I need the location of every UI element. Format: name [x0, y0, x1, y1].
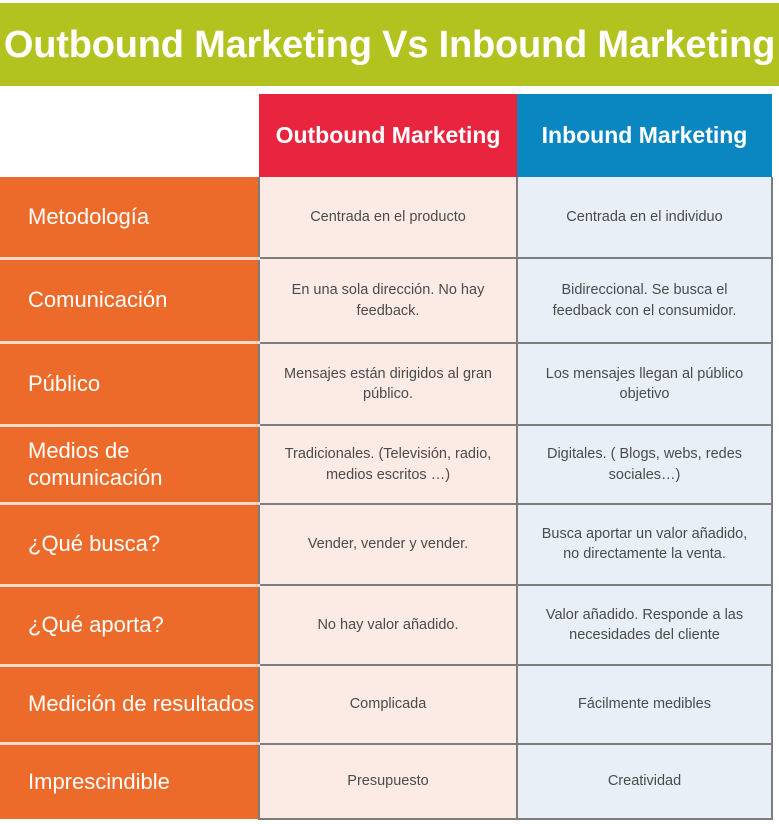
- cell-outbound-medicion-de-resultados: Complicada: [259, 665, 517, 743]
- column-header-outbound: Outbound Marketing: [259, 94, 517, 177]
- comparison-infographic: Outbound Marketing Vs Inbound Marketing …: [0, 0, 779, 824]
- title-banner: Outbound Marketing Vs Inbound Marketing: [0, 3, 779, 86]
- cell-outbound-medios-de-comunicacion: Tradicionales. (Televisión, radio, medio…: [259, 425, 517, 503]
- column-header-inbound: Inbound Marketing: [517, 94, 772, 177]
- row-label-que-aporta: ¿Qué aporta?: [0, 585, 259, 665]
- cell-outbound-comunicacion: En una sola dirección. No hay feedback.: [259, 258, 517, 343]
- table-row: Metodología Centrada en el producto Cent…: [0, 177, 772, 258]
- cell-inbound-que-aporta: Valor añadido. Responde a las necesidade…: [517, 585, 772, 665]
- row-label-medios-de-comunicacion: Medios de comunicación: [0, 425, 259, 503]
- cell-inbound-que-busca: Busca aportar un valor añadido, no direc…: [517, 504, 772, 585]
- row-label-imprescindible: Imprescindible: [0, 744, 259, 819]
- cell-outbound-que-aporta: No hay valor añadido.: [259, 585, 517, 665]
- table-row: ¿Qué aporta? No hay valor añadido. Valor…: [0, 585, 772, 665]
- cell-outbound-metodologia: Centrada en el producto: [259, 177, 517, 258]
- table-row: Imprescindible Presupuesto Creatividad: [0, 744, 772, 819]
- cell-outbound-publico: Mensajes están dirigidos al gran público…: [259, 343, 517, 425]
- comparison-table: Outbound Marketing Inbound Marketing Met…: [0, 94, 773, 820]
- cell-inbound-medicion-de-resultados: Fácilmente medibles: [517, 665, 772, 743]
- comparison-table-wrapper: Outbound Marketing Inbound Marketing Met…: [0, 94, 779, 824]
- table-row: ¿Qué busca? Vender, vender y vender. Bus…: [0, 504, 772, 585]
- cell-inbound-metodologia: Centrada en el individuo: [517, 177, 772, 258]
- table-head: Outbound Marketing Inbound Marketing: [0, 94, 772, 177]
- table-header-row: Outbound Marketing Inbound Marketing: [0, 94, 772, 177]
- table-row: Medios de comunicación Tradicionales. (T…: [0, 425, 772, 503]
- cell-outbound-que-busca: Vender, vender y vender.: [259, 504, 517, 585]
- page-title: Outbound Marketing Vs Inbound Marketing: [4, 26, 775, 64]
- cell-inbound-comunicacion: Bidireccional. Se busca el feedback con …: [517, 258, 772, 343]
- row-label-medicion-de-resultados: Medición de resultados: [0, 665, 259, 743]
- cell-inbound-medios-de-comunicacion: Digitales. ( Blogs, webs, redes sociales…: [517, 425, 772, 503]
- table-body: Metodología Centrada en el producto Cent…: [0, 177, 772, 819]
- row-label-publico: Público: [0, 343, 259, 425]
- row-label-comunicacion: Comunicación: [0, 258, 259, 343]
- cell-inbound-publico: Los mensajes llegan al público objetivo: [517, 343, 772, 425]
- cell-inbound-imprescindible: Creatividad: [517, 744, 772, 819]
- cell-outbound-imprescindible: Presupuesto: [259, 744, 517, 819]
- row-label-metodologia: Metodología: [0, 177, 259, 258]
- table-row: Medición de resultados Complicada Fácilm…: [0, 665, 772, 743]
- table-corner-cell: [0, 94, 259, 177]
- table-row: Comunicación En una sola dirección. No h…: [0, 258, 772, 343]
- row-label-que-busca: ¿Qué busca?: [0, 504, 259, 585]
- table-row: Público Mensajes están dirigidos al gran…: [0, 343, 772, 425]
